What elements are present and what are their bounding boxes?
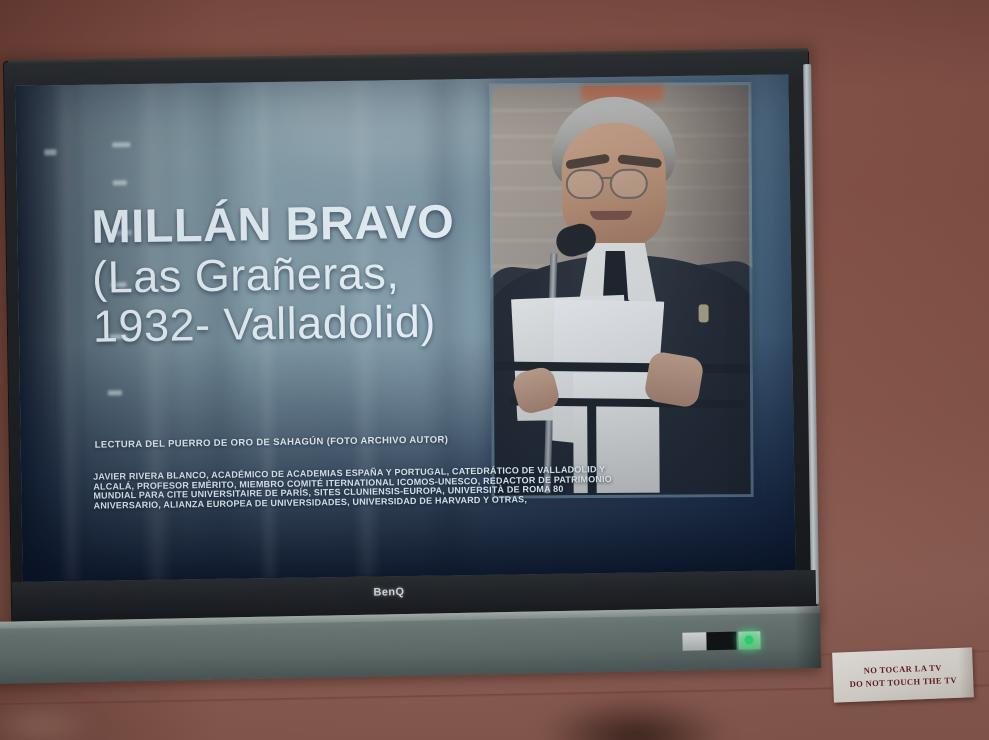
slide-credits: JAVIER RIVERA BLANCO, ACADÉMICO DE ACADE… <box>93 465 639 511</box>
slide-text-layer: MILLÁN BRAVO (Las Grañeras, 1932- Vallad… <box>15 74 795 581</box>
warning-sign-line-spanish: NO TOCAR LA TV <box>864 662 942 675</box>
console-ir-window <box>706 632 736 651</box>
console-right-shadow <box>794 606 821 668</box>
warning-sign-shadow <box>958 647 974 698</box>
console-control-panel[interactable] <box>682 632 706 650</box>
warning-sign: NO TOCAR LA TV DO NOT TOUCH THE TV <box>832 647 974 702</box>
tv-screen[interactable]: MILLÁN BRAVO (Las Grañeras, 1932- Vallad… <box>15 74 795 581</box>
slide-title-line-2: (Las Grañeras, <box>92 248 563 301</box>
benq-logo: BenQ <box>354 586 424 599</box>
television[interactable]: MILLÁN BRAVO (Las Grañeras, 1932- Vallad… <box>4 50 816 628</box>
slide-title: MILLÁN BRAVO (Las Grañeras, 1932- Vallad… <box>91 196 563 350</box>
slide-title-line-3: 1932- Valladolid) <box>93 296 564 349</box>
slide-title-line-1: MILLÁN BRAVO <box>91 196 562 251</box>
slide-caption: LECTURA DEL PUERRO DE ORO DE SAHAGÚN (FO… <box>95 433 525 450</box>
room-scene: MILLÁN BRAVO (Las Grañeras, 1932- Vallad… <box>0 0 989 740</box>
warning-sign-line-english: DO NOT TOUCH THE TV <box>849 674 957 688</box>
